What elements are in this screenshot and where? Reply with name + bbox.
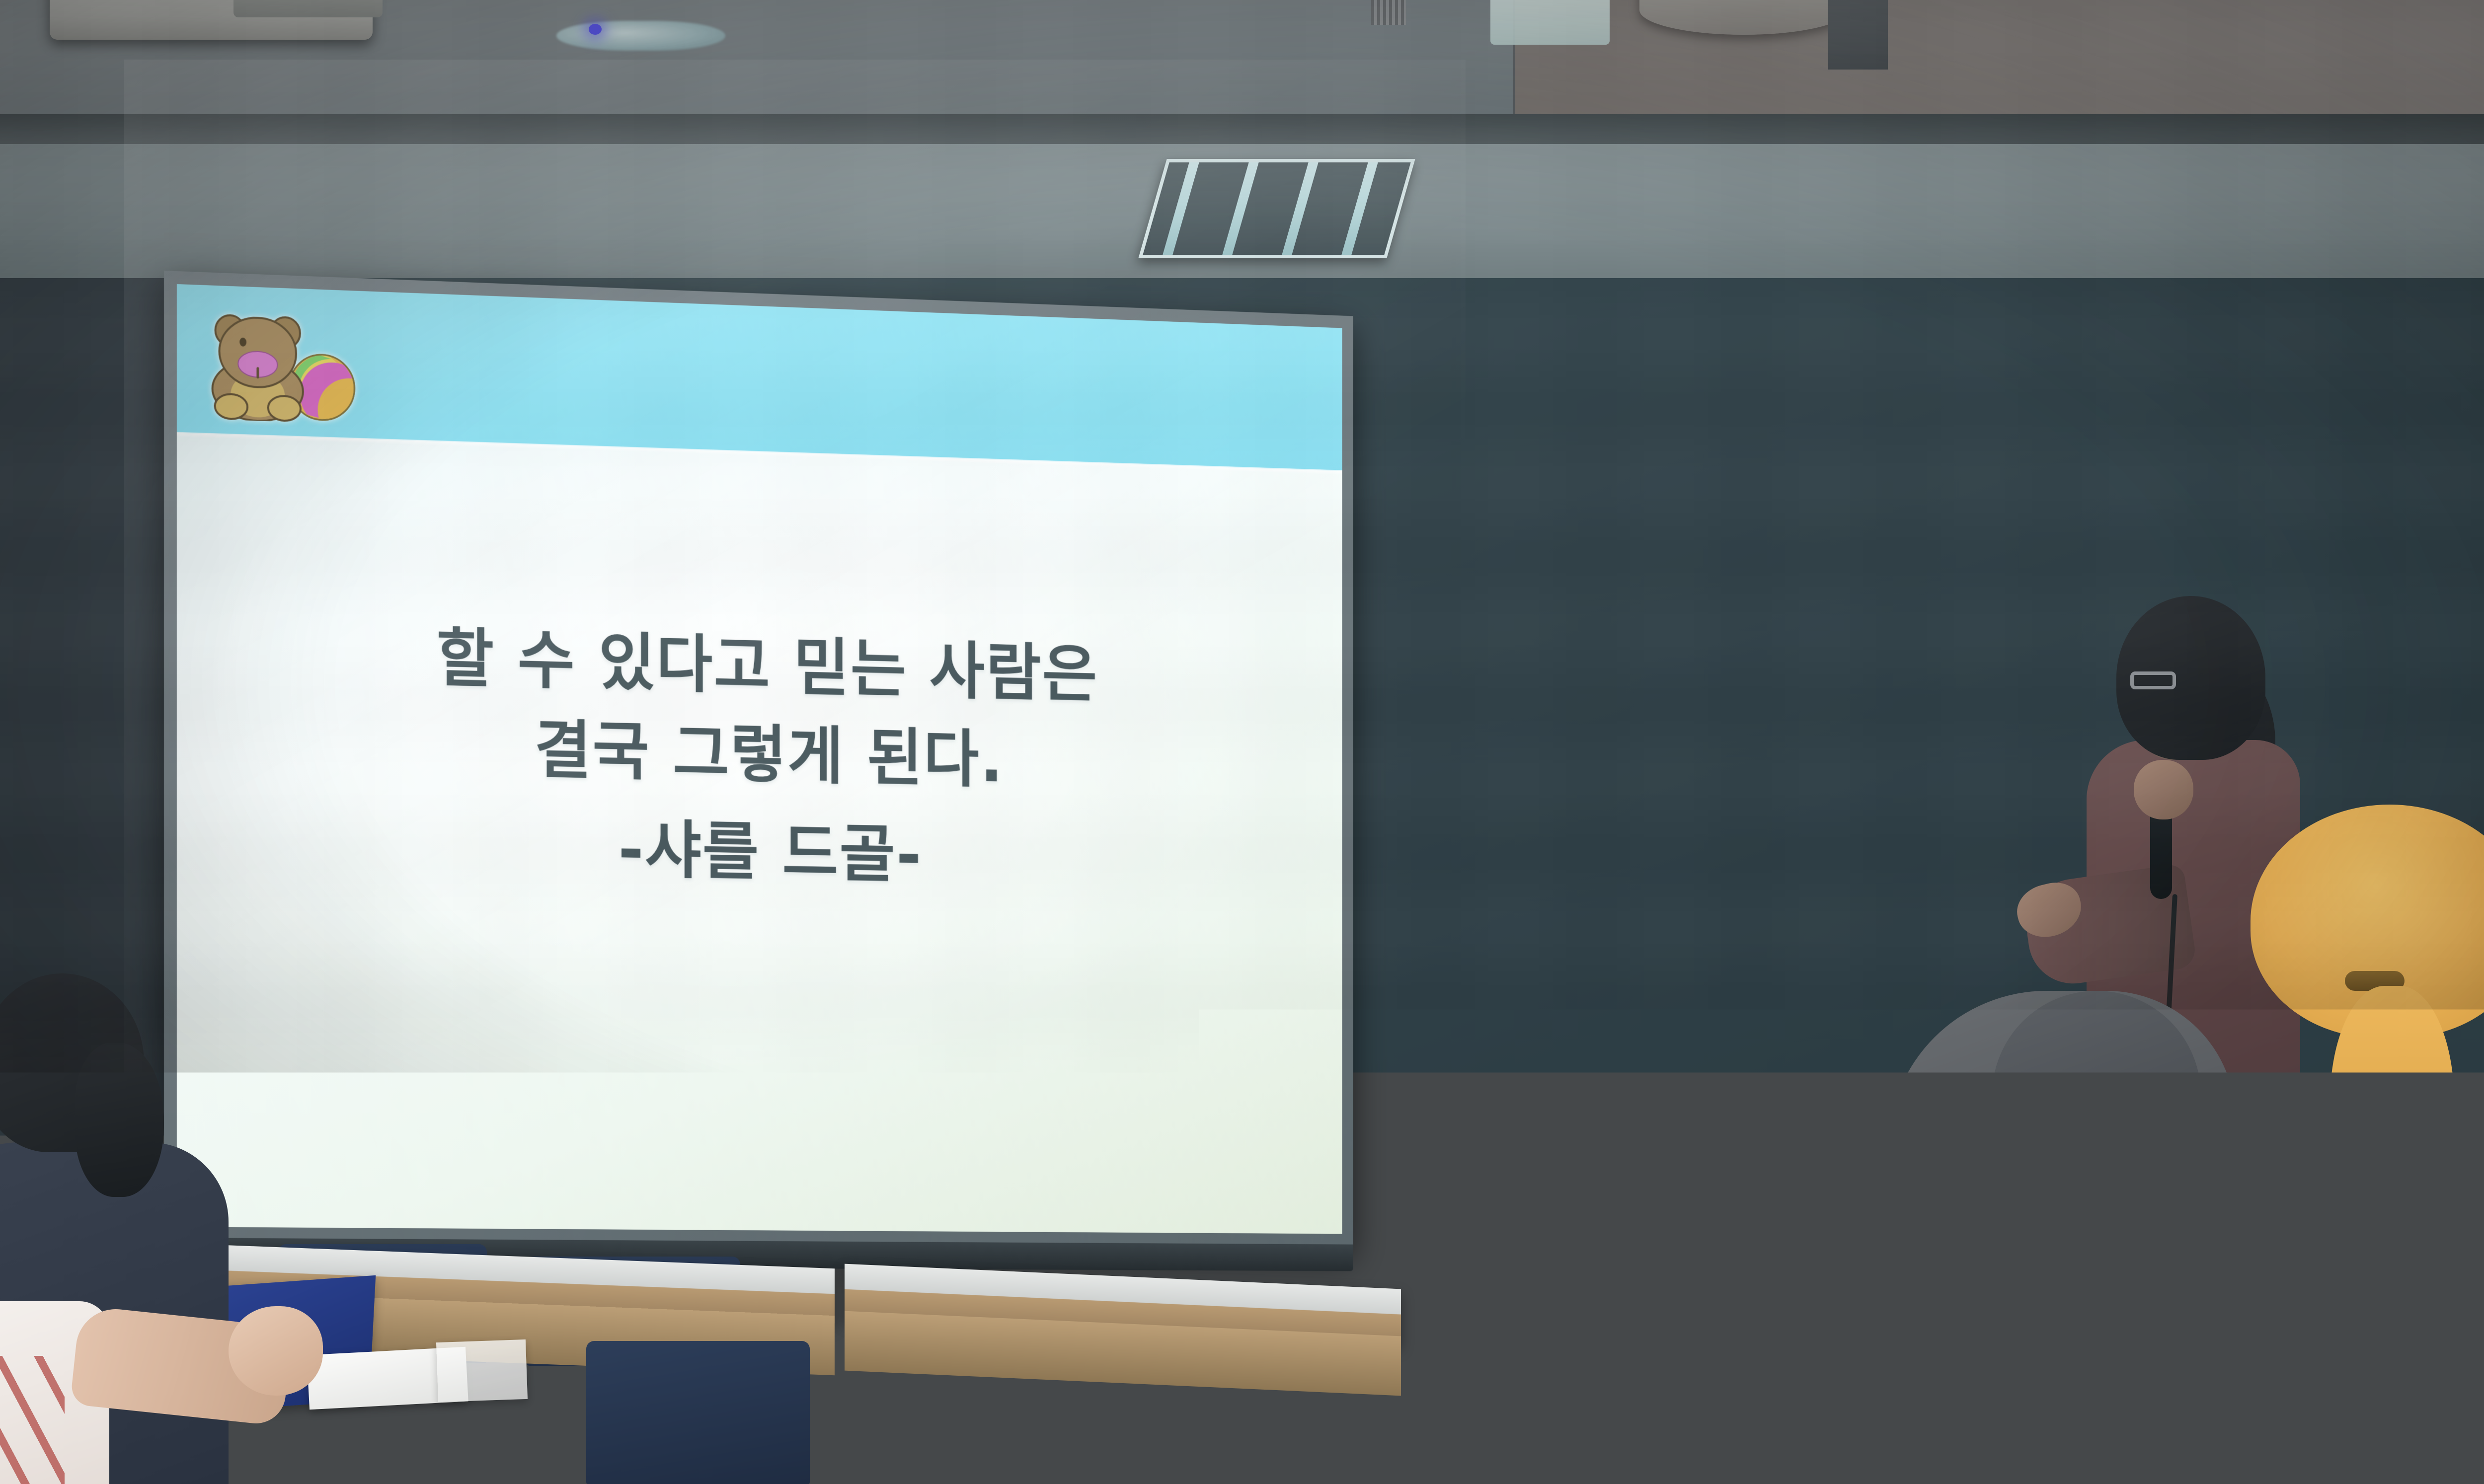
- ceiling-access-panel: [1828, 0, 1888, 70]
- ceiling-air-vent-icon: [1138, 159, 1415, 258]
- water-bottle: [1759, 1299, 1818, 1463]
- student-far-right-top-pattern: [2380, 1341, 2484, 1484]
- water-bottle-cap: [1772, 1308, 1804, 1331]
- tissue-box: [436, 1339, 528, 1402]
- quote-attribution: -샤를 드골-: [618, 805, 922, 899]
- presentation-slide: 할 수 있다고 믿는 사람은 결국 그렇게 된다. -샤를 드골-: [177, 284, 1342, 1234]
- quote-line-1: 할 수 있다고 믿는 사람은: [437, 614, 1098, 719]
- student-front-left-shirt-pattern: [0, 1356, 65, 1484]
- student-blonde-ponytail: [2330, 986, 2454, 1249]
- slide-quote-block: 할 수 있다고 믿는 사람은 결국 그렇게 된다. -샤를 드골-: [177, 433, 1342, 1234]
- quote-line-2: 결국 그렇게 된다.: [535, 706, 1004, 805]
- ceiling-light-fixture: [1490, 0, 1610, 45]
- projector-vent-icon: [1371, 0, 1406, 25]
- projection-screen-frame: 할 수 있다고 믿는 사람은 결국 그렇게 된다. -샤를 드골-: [164, 271, 1353, 1248]
- water-bottle-neck: [1774, 1328, 1802, 1355]
- chair-back: [586, 1341, 810, 1484]
- presenter-right-hand: [2134, 760, 2193, 819]
- student-front-left-hair: [75, 1043, 164, 1197]
- ceiling-projector-mount: [233, 0, 383, 17]
- projector-lens-icon: [556, 21, 725, 51]
- teddy-bear-with-ball-icon: [203, 305, 365, 425]
- student-front-left-hand: [229, 1306, 323, 1396]
- presenter-glasses-icon: [2130, 671, 2176, 689]
- water-bottle-label: [1764, 1372, 1813, 1432]
- projector-power-led-icon: [589, 24, 602, 35]
- projection-screen: 할 수 있다고 믿는 사람은 결국 그렇게 된다. -샤를 드골-: [164, 271, 1353, 1248]
- lecture-hall-scene: 할 수 있다고 믿는 사람은 결국 그렇게 된다. -샤를 드골-: [0, 0, 2484, 1484]
